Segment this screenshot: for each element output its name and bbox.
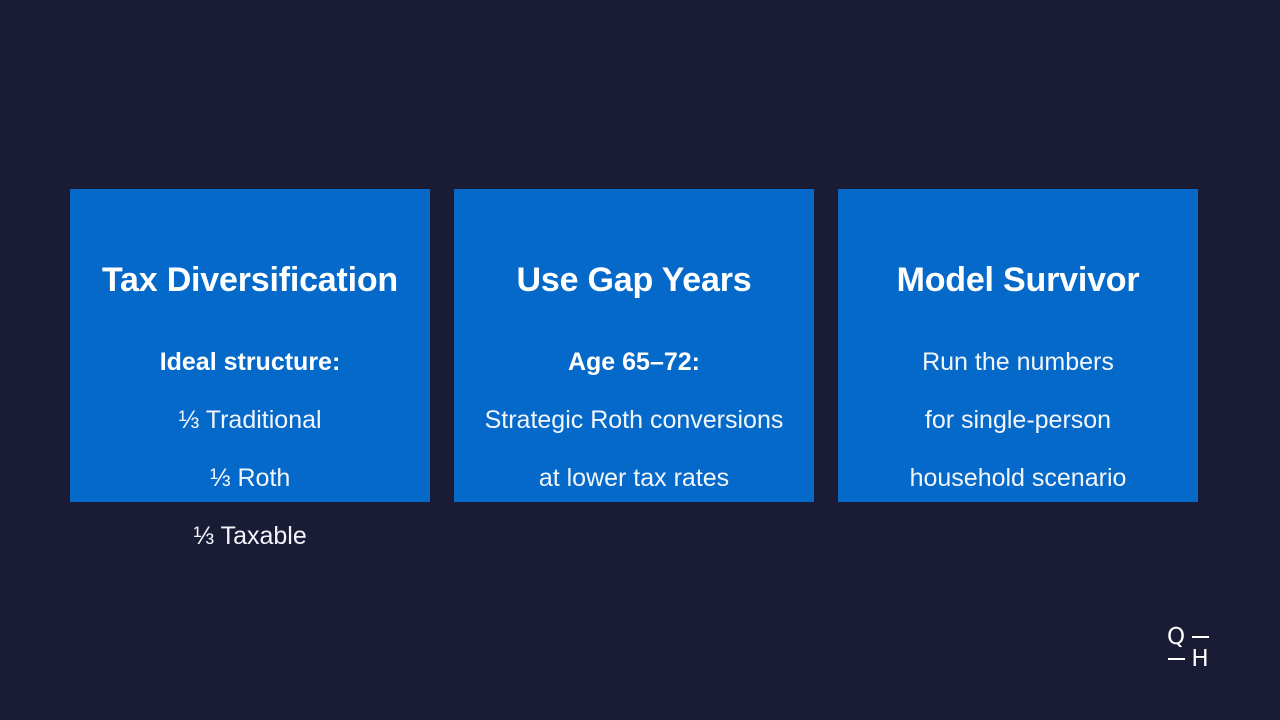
card-body-lead: Ideal structure: bbox=[160, 348, 341, 377]
card-body: Run the numbers for single-person househ… bbox=[910, 319, 1127, 522]
logo-cell-top-left: Q bbox=[1164, 626, 1188, 648]
logo-dash-icon bbox=[1168, 658, 1185, 660]
slide-canvas: Tax Diversification Ideal structure: ⅓ T… bbox=[0, 0, 1280, 720]
logo-cell-bottom-left bbox=[1164, 648, 1188, 670]
card-title: Use Gap Years bbox=[517, 189, 752, 297]
card-body-line: household scenario bbox=[910, 464, 1127, 493]
card-use-gap-years[interactable]: Use Gap Years Age 65–72: Strategic Roth … bbox=[454, 189, 814, 502]
card-title: Tax Diversification bbox=[102, 189, 398, 297]
card-body-line: Run the numbers bbox=[910, 348, 1127, 377]
logo-letter-h: H bbox=[1191, 648, 1208, 671]
brand-logo: Q H bbox=[1164, 626, 1212, 670]
card-title: Model Survivor bbox=[897, 189, 1140, 297]
card-body-line: at lower tax rates bbox=[485, 464, 784, 493]
logo-dash-icon bbox=[1192, 636, 1209, 638]
card-body-line: ⅓ Taxable bbox=[160, 522, 341, 551]
logo-cell-top-right bbox=[1188, 626, 1212, 648]
card-body-lead: Age 65–72: bbox=[485, 348, 784, 377]
logo-letter-q: Q bbox=[1167, 626, 1185, 649]
card-body: Age 65–72: Strategic Roth conversions at… bbox=[485, 319, 784, 522]
card-body-line: for single-person bbox=[910, 406, 1127, 435]
logo-cell-bottom-right: H bbox=[1188, 648, 1212, 670]
card-body-line: ⅓ Traditional bbox=[160, 406, 341, 435]
card-body: Ideal structure: ⅓ Traditional ⅓ Roth ⅓ … bbox=[160, 319, 341, 580]
card-body-line: ⅓ Roth bbox=[160, 464, 341, 493]
card-body-line: Strategic Roth conversions bbox=[485, 406, 784, 435]
card-row: Tax Diversification Ideal structure: ⅓ T… bbox=[70, 189, 1198, 502]
card-model-survivor[interactable]: Model Survivor Run the numbers for singl… bbox=[838, 189, 1198, 502]
card-tax-diversification[interactable]: Tax Diversification Ideal structure: ⅓ T… bbox=[70, 189, 430, 502]
